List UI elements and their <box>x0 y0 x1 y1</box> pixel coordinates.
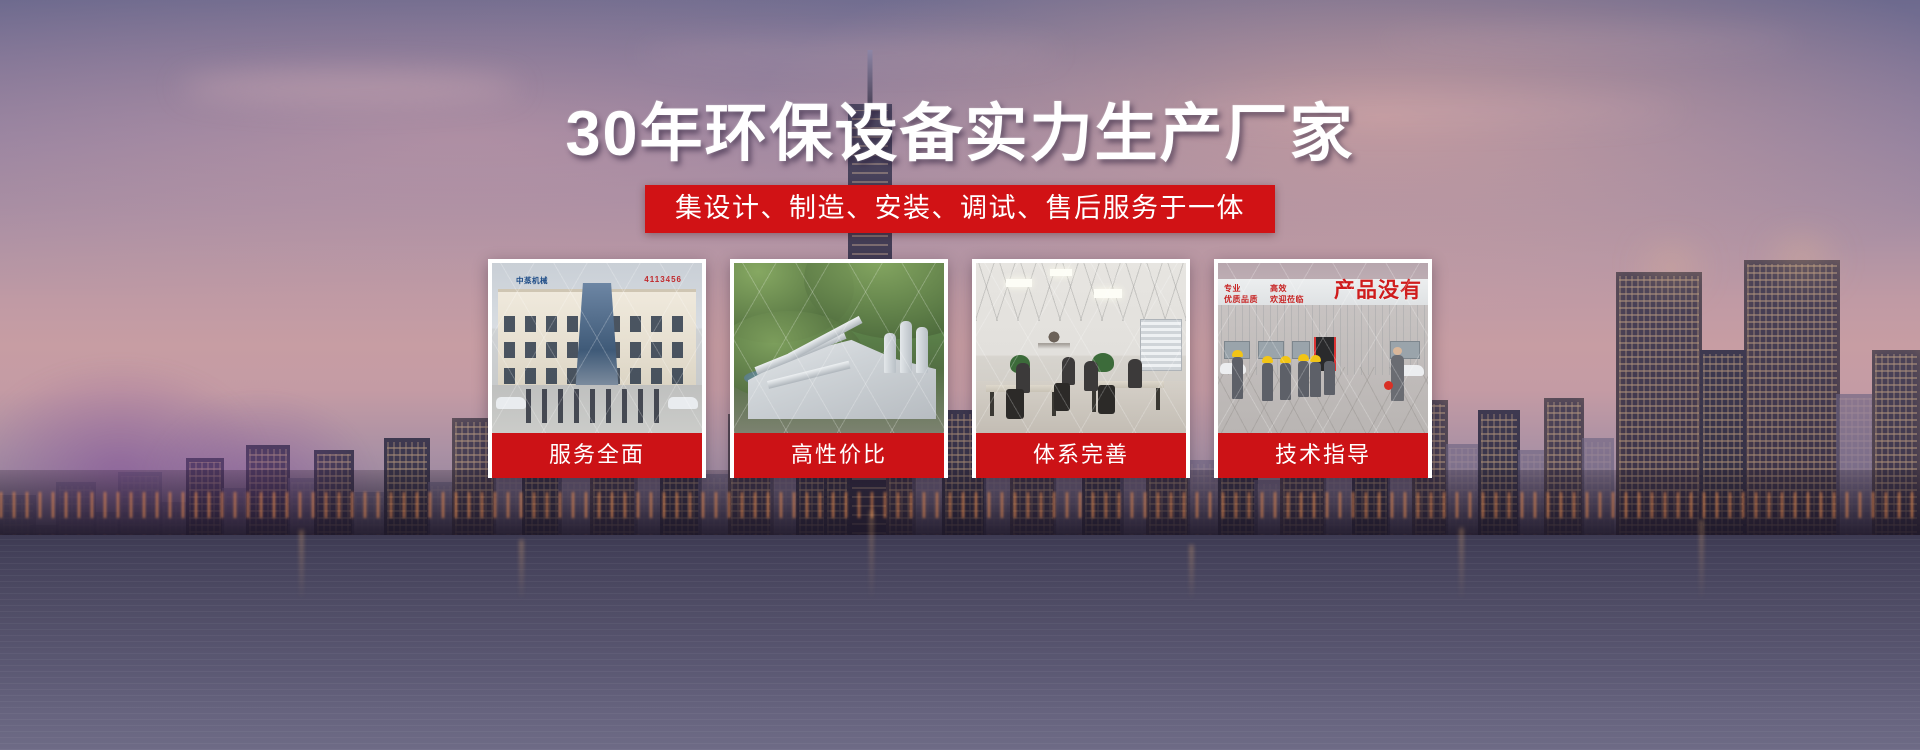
banner-content: 30年环保设备实力生产厂家 集设计、制造、安装、调试、售后服务于一体 中蒸机械 … <box>0 0 1920 750</box>
wall-slogan-small-2: 高效 <box>1270 284 1287 293</box>
card-photo-office-building: 中蒸机械 4113456 <box>492 263 702 433</box>
feature-card[interactable]: 高性价比 <box>730 259 948 478</box>
feature-card-list: 中蒸机械 4113456 服务全面 <box>488 259 1432 478</box>
wall-slogan-small-1: 专业 <box>1224 284 1241 293</box>
photo-phone-number: 4113456 <box>644 275 682 284</box>
subtitle-badge: 集设计、制造、安装、调试、售后服务于一体 <box>645 185 1275 233</box>
wall-slogan-large: 产品没有 <box>1334 280 1422 301</box>
feature-card[interactable]: 产品没有 专业 优质品质 高效 欢迎莅临 <box>1214 259 1432 478</box>
card-label: 高性价比 <box>734 433 944 478</box>
card-label: 技术指导 <box>1218 433 1428 478</box>
wall-slogan-small-3: 优质品质 <box>1224 295 1258 304</box>
hero-banner: 30年环保设备实力生产厂家 集设计、制造、安装、调试、售后服务于一体 中蒸机械 … <box>0 0 1920 750</box>
feature-card[interactable]: 中蒸机械 4113456 服务全面 <box>488 259 706 478</box>
photo-company-sign: 中蒸机械 <box>516 275 548 286</box>
card-photo-factory-workers: 产品没有 专业 优质品质 高效 欢迎莅临 <box>1218 263 1428 433</box>
page-title: 30年环保设备实力生产厂家 <box>565 103 1354 166</box>
card-photo-office-interior <box>976 263 1186 433</box>
card-label: 体系完善 <box>976 433 1186 478</box>
card-photo-aerial-plant <box>734 263 944 433</box>
feature-card[interactable]: 体系完善 <box>972 259 1190 478</box>
card-label: 服务全面 <box>492 433 702 478</box>
wall-decal <box>1038 325 1070 355</box>
wall-slogan-small-4: 欢迎莅临 <box>1270 295 1304 304</box>
